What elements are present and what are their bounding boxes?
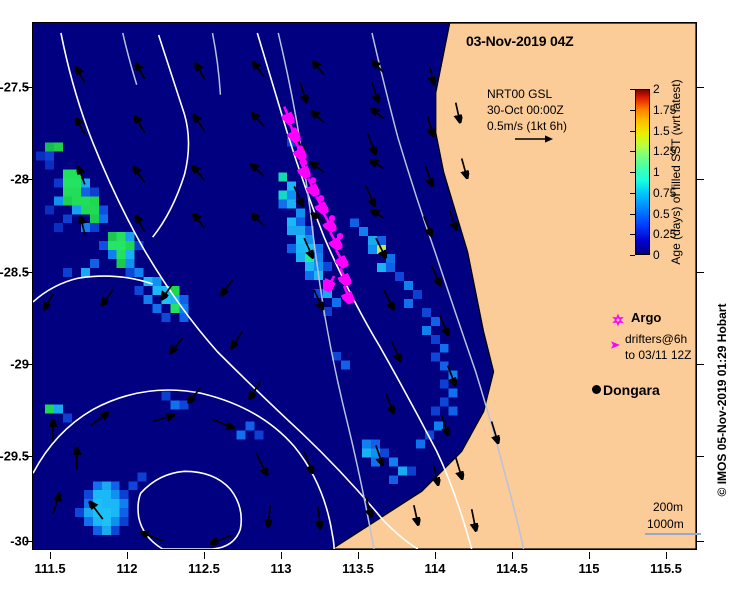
- x-tick-label: 114: [425, 561, 446, 576]
- x-tick-label: 115: [579, 561, 600, 576]
- y-tick-label: -28.5: [0, 265, 29, 280]
- model-annotation: NRT00 GSL 30-Oct 00:00Z 0.5m/s (1kt 6h): [487, 86, 567, 134]
- x-tick: [512, 552, 513, 559]
- colorbar-tick: [630, 193, 635, 194]
- colorbar-tick: [630, 110, 635, 111]
- y-tick-right: [697, 179, 704, 180]
- x-tick-label: 114.5: [496, 561, 528, 576]
- map-figure: 111.5 112 112.5 113 113.5 114 114.5 115 …: [0, 0, 739, 592]
- y-tick-label: -30: [10, 534, 29, 549]
- x-tick-label: 113: [271, 561, 292, 576]
- x-tick: [281, 552, 282, 559]
- bathymetry-key-deep: 1000m: [647, 517, 684, 531]
- map-plot-area[interactable]: [32, 22, 697, 550]
- x-tick: [589, 552, 590, 559]
- colorbar-tick-label: 0.5: [653, 207, 670, 221]
- colorbar-tick-label: 1: [653, 165, 660, 179]
- x-tick-label: 113.5: [342, 561, 374, 576]
- colorbar-tick: [630, 255, 635, 256]
- colorbar-tick: [630, 131, 635, 132]
- current-vector-field: [45, 63, 498, 543]
- argo-marker-icon: [611, 313, 625, 327]
- colorbar-tick-label: 2: [653, 82, 660, 96]
- legend-drifters-label: drifters@6h to 03/11 12Z: [625, 331, 692, 363]
- model-timestamp: 30-Oct 00:00Z: [487, 102, 567, 118]
- drifter-marker-icon: [607, 339, 621, 351]
- vector-scale-arrow-icon: [515, 133, 555, 145]
- copyright-notice: © IMOS 05-Nov-2019 01:29 Hobart: [715, 304, 729, 497]
- colorbar-tick: [630, 234, 635, 235]
- x-tick: [358, 552, 359, 559]
- y-tick-label: -27.5: [0, 80, 29, 95]
- y-tick-right: [697, 87, 704, 88]
- legend-argo-label: Argo: [631, 310, 661, 325]
- colorbar-tick: [630, 151, 635, 152]
- y-tick-label: -29.5: [0, 449, 29, 464]
- y-tick-label: -29: [10, 357, 29, 372]
- city-marker-icon: [592, 385, 601, 394]
- colorbar-tick-label: 1.5: [653, 124, 670, 138]
- colorbar-tick: [630, 89, 635, 90]
- legend-drifters-line1: drifters@6h: [625, 331, 692, 347]
- page-title: 03-Nov-2019 04Z: [466, 33, 574, 49]
- colorbar-tick-label: 0: [653, 248, 660, 262]
- x-tick-label: 111.5: [34, 561, 65, 576]
- y-tick-right: [697, 456, 704, 457]
- bathymetry-key-line: [645, 533, 701, 535]
- y-tick-right: [697, 272, 704, 273]
- x-tick: [50, 552, 51, 559]
- sst-age-raster: [36, 138, 458, 535]
- x-tick-label: 115.5: [650, 561, 682, 576]
- y-tick-right: [697, 364, 704, 365]
- y-tick-right: [697, 541, 704, 542]
- legend-drifters-line2: to 03/11 12Z: [625, 347, 692, 363]
- x-tick: [435, 552, 436, 559]
- model-name: NRT00 GSL: [487, 86, 567, 102]
- x-tick: [666, 552, 667, 559]
- x-tick: [127, 552, 128, 559]
- x-tick-label: 112.5: [188, 561, 220, 576]
- colorbar-label: Age (days) of filled SST (wrt latest): [669, 79, 683, 264]
- y-tick-label: -28: [10, 172, 29, 187]
- city-label: Dongara: [603, 382, 660, 398]
- colorbar-tick: [630, 214, 635, 215]
- x-tick-label: 112: [117, 561, 138, 576]
- colorbar-tick: [630, 172, 635, 173]
- bathymetry-key-shallow: 200m: [653, 500, 683, 514]
- map-canvas: [33, 23, 696, 549]
- x-tick: [204, 552, 205, 559]
- vector-scale-text: 0.5m/s (1kt 6h): [487, 118, 567, 134]
- colorbar[interactable]: [635, 89, 650, 255]
